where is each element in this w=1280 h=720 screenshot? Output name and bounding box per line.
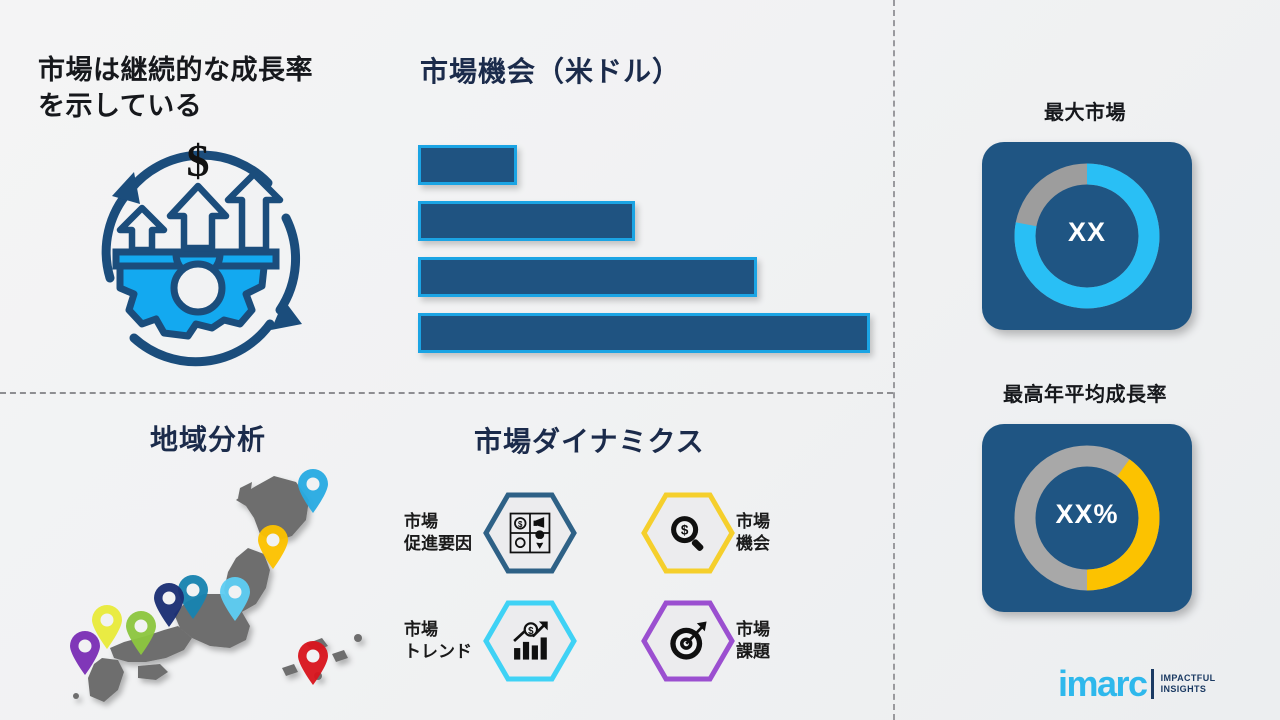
- metric-title-largest-market: 最大市場: [945, 96, 1225, 125]
- svg-text:$: $: [681, 523, 689, 538]
- pin-kansai: [124, 610, 158, 656]
- dynamics-label-market-opportunities: 市場 機会: [736, 511, 814, 555]
- infographic-slide: 市場は継続的な成長率 を示している $ 市場機会（米ドル）: [0, 0, 1280, 720]
- puzzle-drivers-icon: $: [482, 490, 578, 576]
- logo-wordmark: imarc: [1058, 666, 1147, 702]
- dynamics-cell-market-opportunities[interactable]: $市場 機会: [640, 490, 830, 576]
- pin-okinawa: [296, 640, 330, 686]
- metric-title-highest-cagr: 最高年平均成長率: [945, 378, 1225, 407]
- opportunity-bar-chart: [418, 145, 878, 355]
- region-analysis-title: 地域分析: [150, 418, 266, 458]
- bar-chart-growth-icon: $: [482, 598, 578, 684]
- bar-2: [418, 201, 635, 241]
- logo-divider: [1151, 669, 1154, 699]
- svg-text:$: $: [518, 520, 523, 529]
- target-arrow-icon: [640, 598, 736, 684]
- pin-hokkaido: [296, 468, 330, 514]
- metric-card-highest-cagr: XX%: [982, 424, 1192, 612]
- dynamics-cell-market-drivers[interactable]: 市場 促進要因$: [404, 490, 594, 576]
- japan-map: [60, 462, 390, 712]
- dynamics-cell-market-trends[interactable]: 市場 トレンド$: [404, 598, 594, 684]
- metric-value-largest-market: XX: [982, 217, 1192, 248]
- market-dynamics-title: 市場ダイナミクス: [474, 420, 705, 460]
- bar-3: [418, 257, 757, 297]
- pin-kyushu: [68, 630, 102, 676]
- opportunity-chart-title: 市場機会（米ドル）: [420, 50, 870, 90]
- dynamics-cell-market-challenges[interactable]: 市場 課題: [640, 598, 830, 684]
- dynamics-label-market-trends: 市場 トレンド: [404, 619, 482, 663]
- dynamics-label-market-challenges: 市場 課題: [736, 619, 814, 663]
- bar-1: [418, 145, 517, 185]
- svg-text:$: $: [187, 135, 210, 186]
- logo-tagline: IMPACTFUL INSIGHTS: [1161, 673, 1216, 696]
- svg-text:$: $: [528, 626, 534, 637]
- imarc-logo: imarc IMPACTFUL INSIGHTS: [1058, 660, 1258, 708]
- pin-kanto: [218, 576, 252, 622]
- metric-value-highest-cagr: XX%: [982, 499, 1192, 530]
- growth-gear-arrows-icon: $: [72, 128, 322, 378]
- pin-tohoku: [256, 524, 290, 570]
- horizontal-divider: [0, 392, 893, 394]
- growth-statement-title: 市場は継続的な成長率 を示している: [38, 52, 388, 125]
- metric-card-largest-market: XX: [982, 142, 1192, 330]
- magnifier-dollar-target-icon: $: [640, 490, 736, 576]
- vertical-divider: [893, 0, 895, 720]
- bar-4: [418, 313, 870, 353]
- dynamics-label-market-drivers: 市場 促進要因: [404, 511, 482, 555]
